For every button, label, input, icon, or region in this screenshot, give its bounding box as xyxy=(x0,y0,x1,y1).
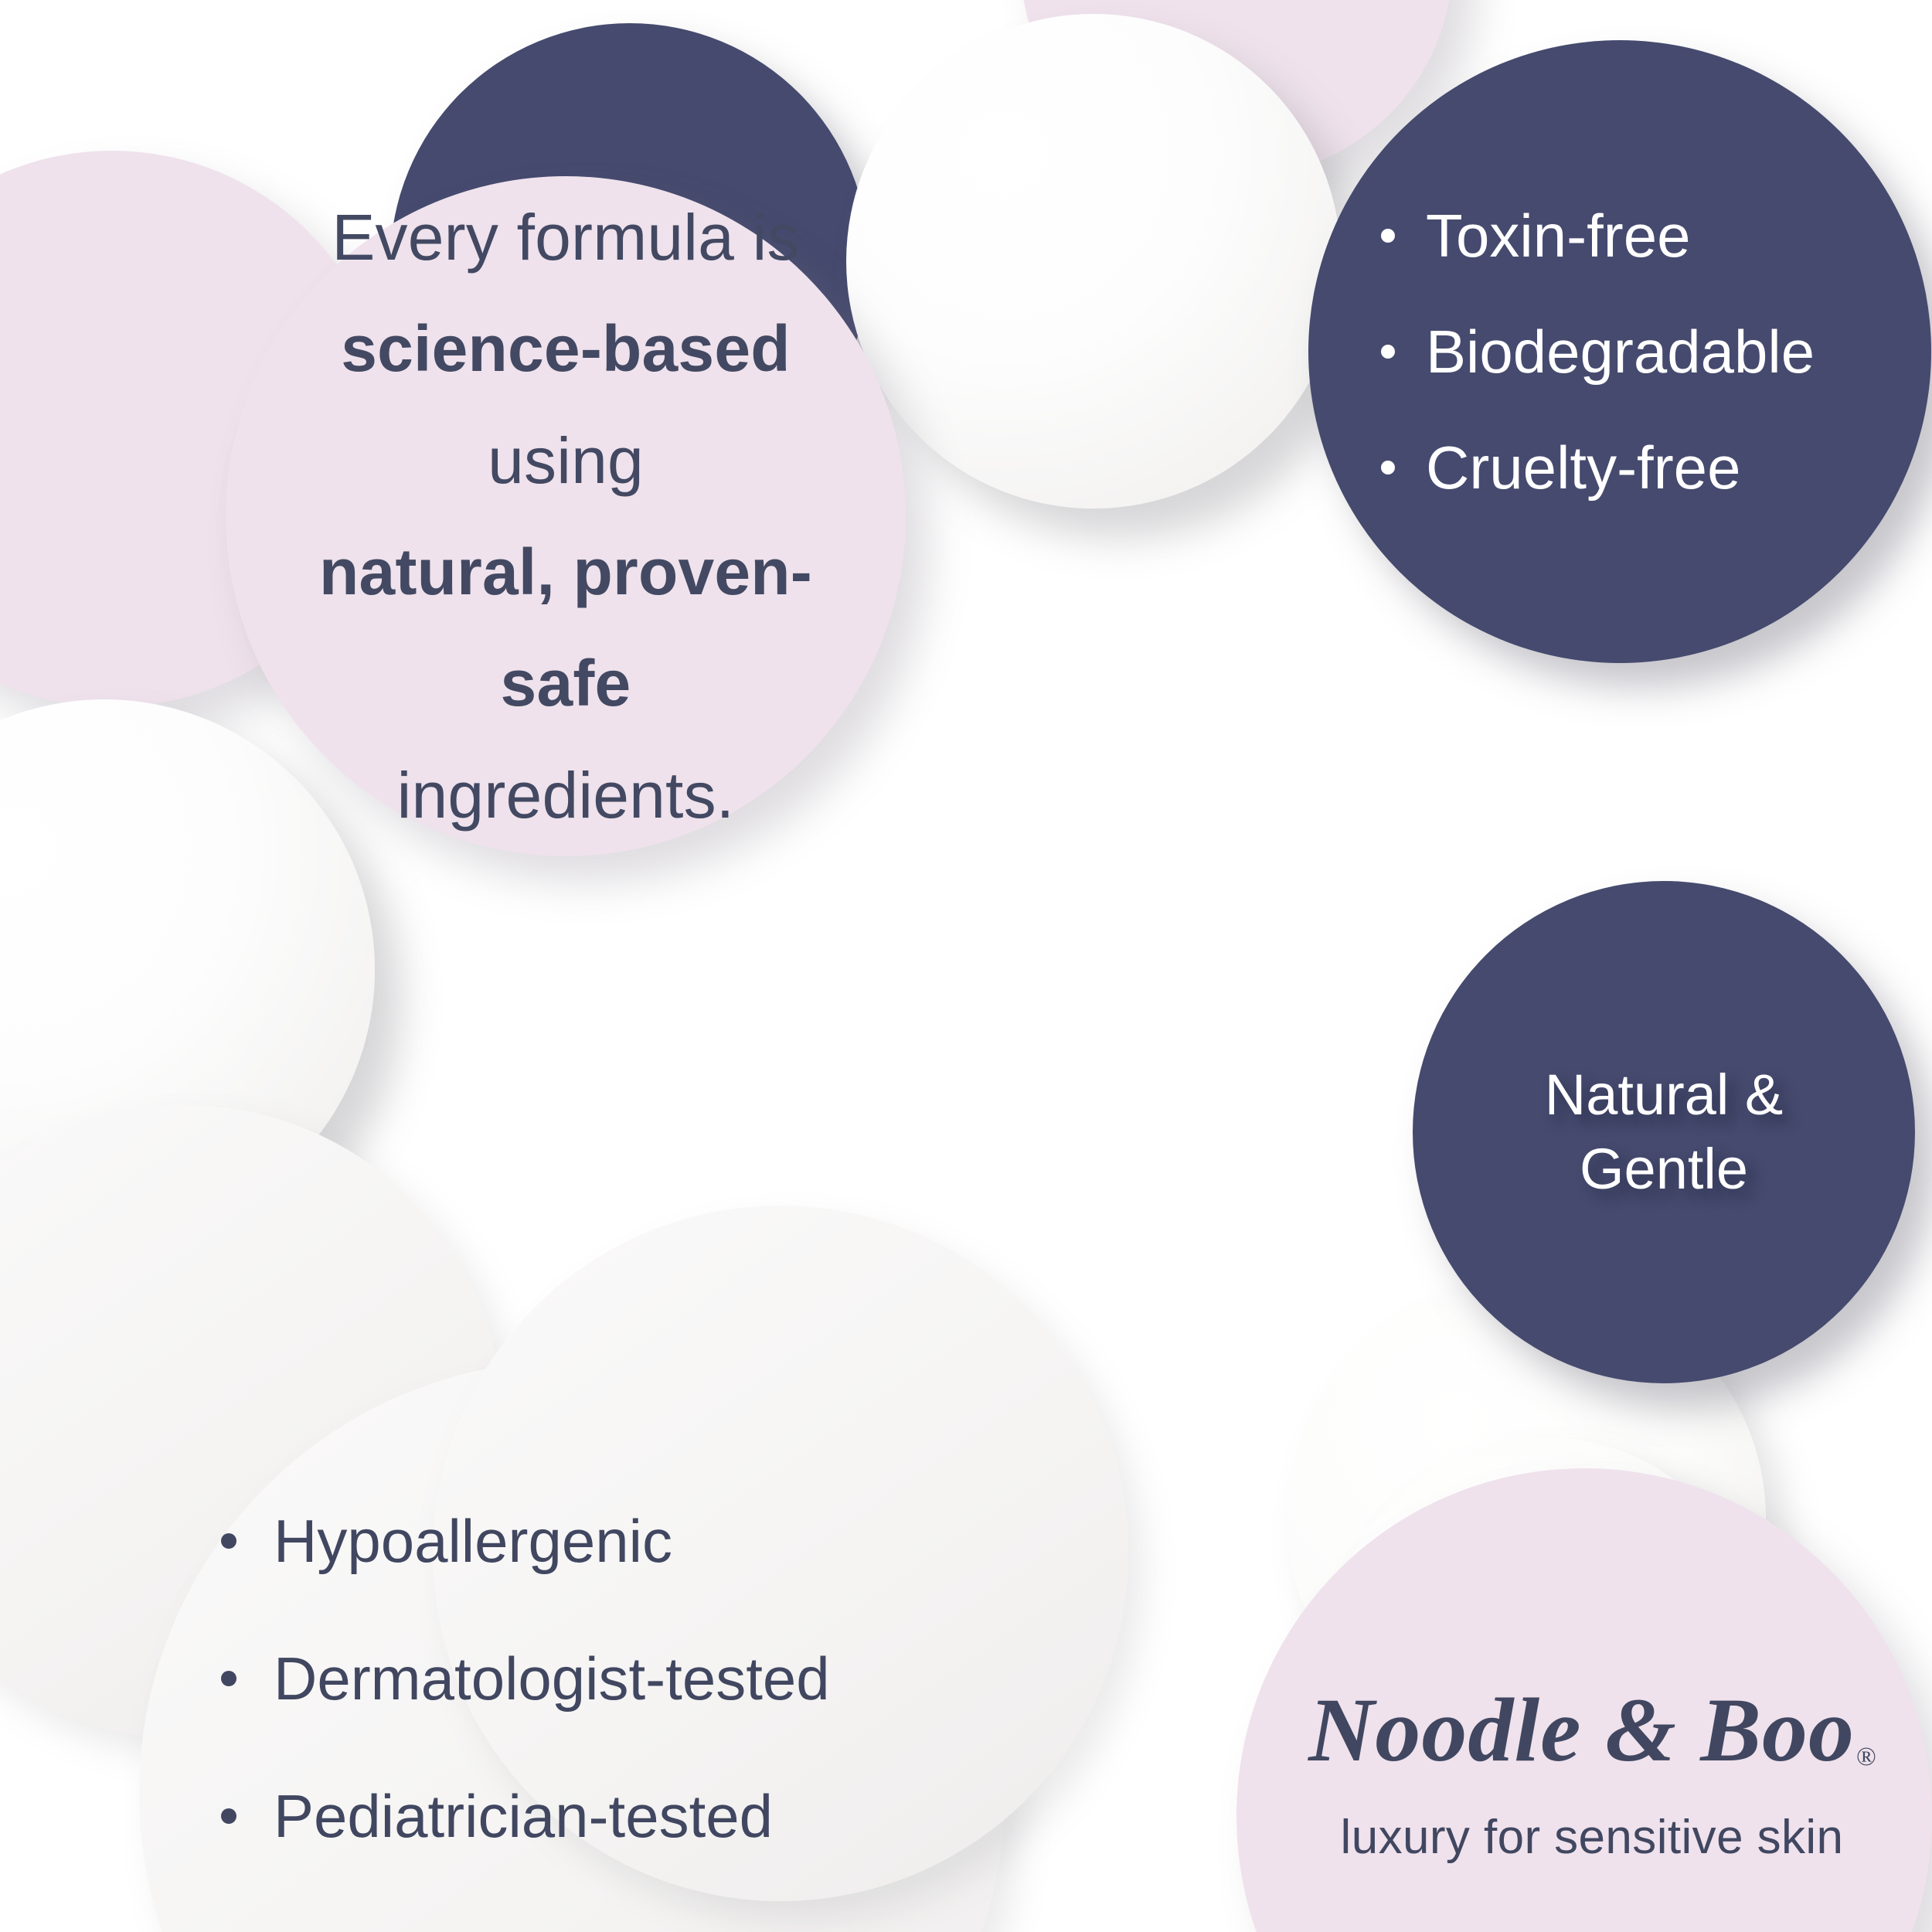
hero-emphasis-science: science-based xyxy=(341,312,791,385)
brand-tagline: luxury for sensitive skin xyxy=(1267,1810,1917,1865)
natural-gentle-line1: Natural & xyxy=(1545,1063,1783,1127)
bullet-dot-icon xyxy=(221,1671,236,1686)
brand-lockup: Noodle & Boo® luxury for sensitive skin xyxy=(1267,1685,1917,1865)
bullet-dot-icon xyxy=(1381,345,1395,359)
hero-line-1: Every formula is xyxy=(332,201,799,274)
hero-statement-circle: Every formula is science-based using nat… xyxy=(226,176,906,856)
natural-gentle-circle: Natural & Gentle xyxy=(1413,881,1915,1383)
bullet-dot-icon xyxy=(221,1808,236,1824)
list-item: Pediatrician-tested xyxy=(221,1786,830,1846)
bullet-dot-icon xyxy=(1381,461,1395,474)
bullet-dot-icon xyxy=(221,1533,236,1549)
bullet-dot-icon xyxy=(1381,229,1395,243)
claim-label: Toxin-free xyxy=(1426,202,1690,270)
list-item: Biodegradable xyxy=(1378,321,1815,382)
claims-list: Toxin-free Biodegradable Cruelty-free xyxy=(1308,206,1815,498)
brand-wordmark: Noodle & Boo® xyxy=(1267,1685,1917,1776)
hero-line-4: ingredients. xyxy=(397,759,735,832)
list-item: Toxin-free xyxy=(1378,206,1815,266)
claim-label: Biodegradable xyxy=(1426,318,1815,386)
tested-list: Hypoallergenic Dermatologist-tested Pedi… xyxy=(221,1511,830,1846)
natural-gentle-text: Natural & Gentle xyxy=(1494,1058,1834,1206)
tested-label: Hypoallergenic xyxy=(274,1507,672,1575)
poster-canvas: Toxin-free Biodegradable Cruelty-free Na… xyxy=(0,0,1932,1932)
hero-emphasis-natural: natural, proven-safe xyxy=(319,536,812,719)
list-item: Hypoallergenic xyxy=(221,1511,830,1571)
brand-name: Noodle & Boo xyxy=(1308,1679,1855,1781)
list-item: Cruelty-free xyxy=(1378,437,1815,498)
decor-circle-white-topcenter xyxy=(846,14,1341,509)
claims-circle: Toxin-free Biodegradable Cruelty-free xyxy=(1308,40,1931,663)
natural-gentle-line2: Gentle xyxy=(1580,1137,1748,1201)
hero-line-2-rest: using xyxy=(488,424,644,497)
registered-mark-icon: ® xyxy=(1856,1743,1877,1771)
hero-statement-text: Every formula is science-based using nat… xyxy=(295,182,836,852)
tested-label: Dermatologist-tested xyxy=(274,1645,830,1713)
list-item: Dermatologist-tested xyxy=(221,1648,830,1709)
claim-label: Cruelty-free xyxy=(1426,434,1740,502)
tested-label: Pediatrician-tested xyxy=(274,1782,773,1850)
